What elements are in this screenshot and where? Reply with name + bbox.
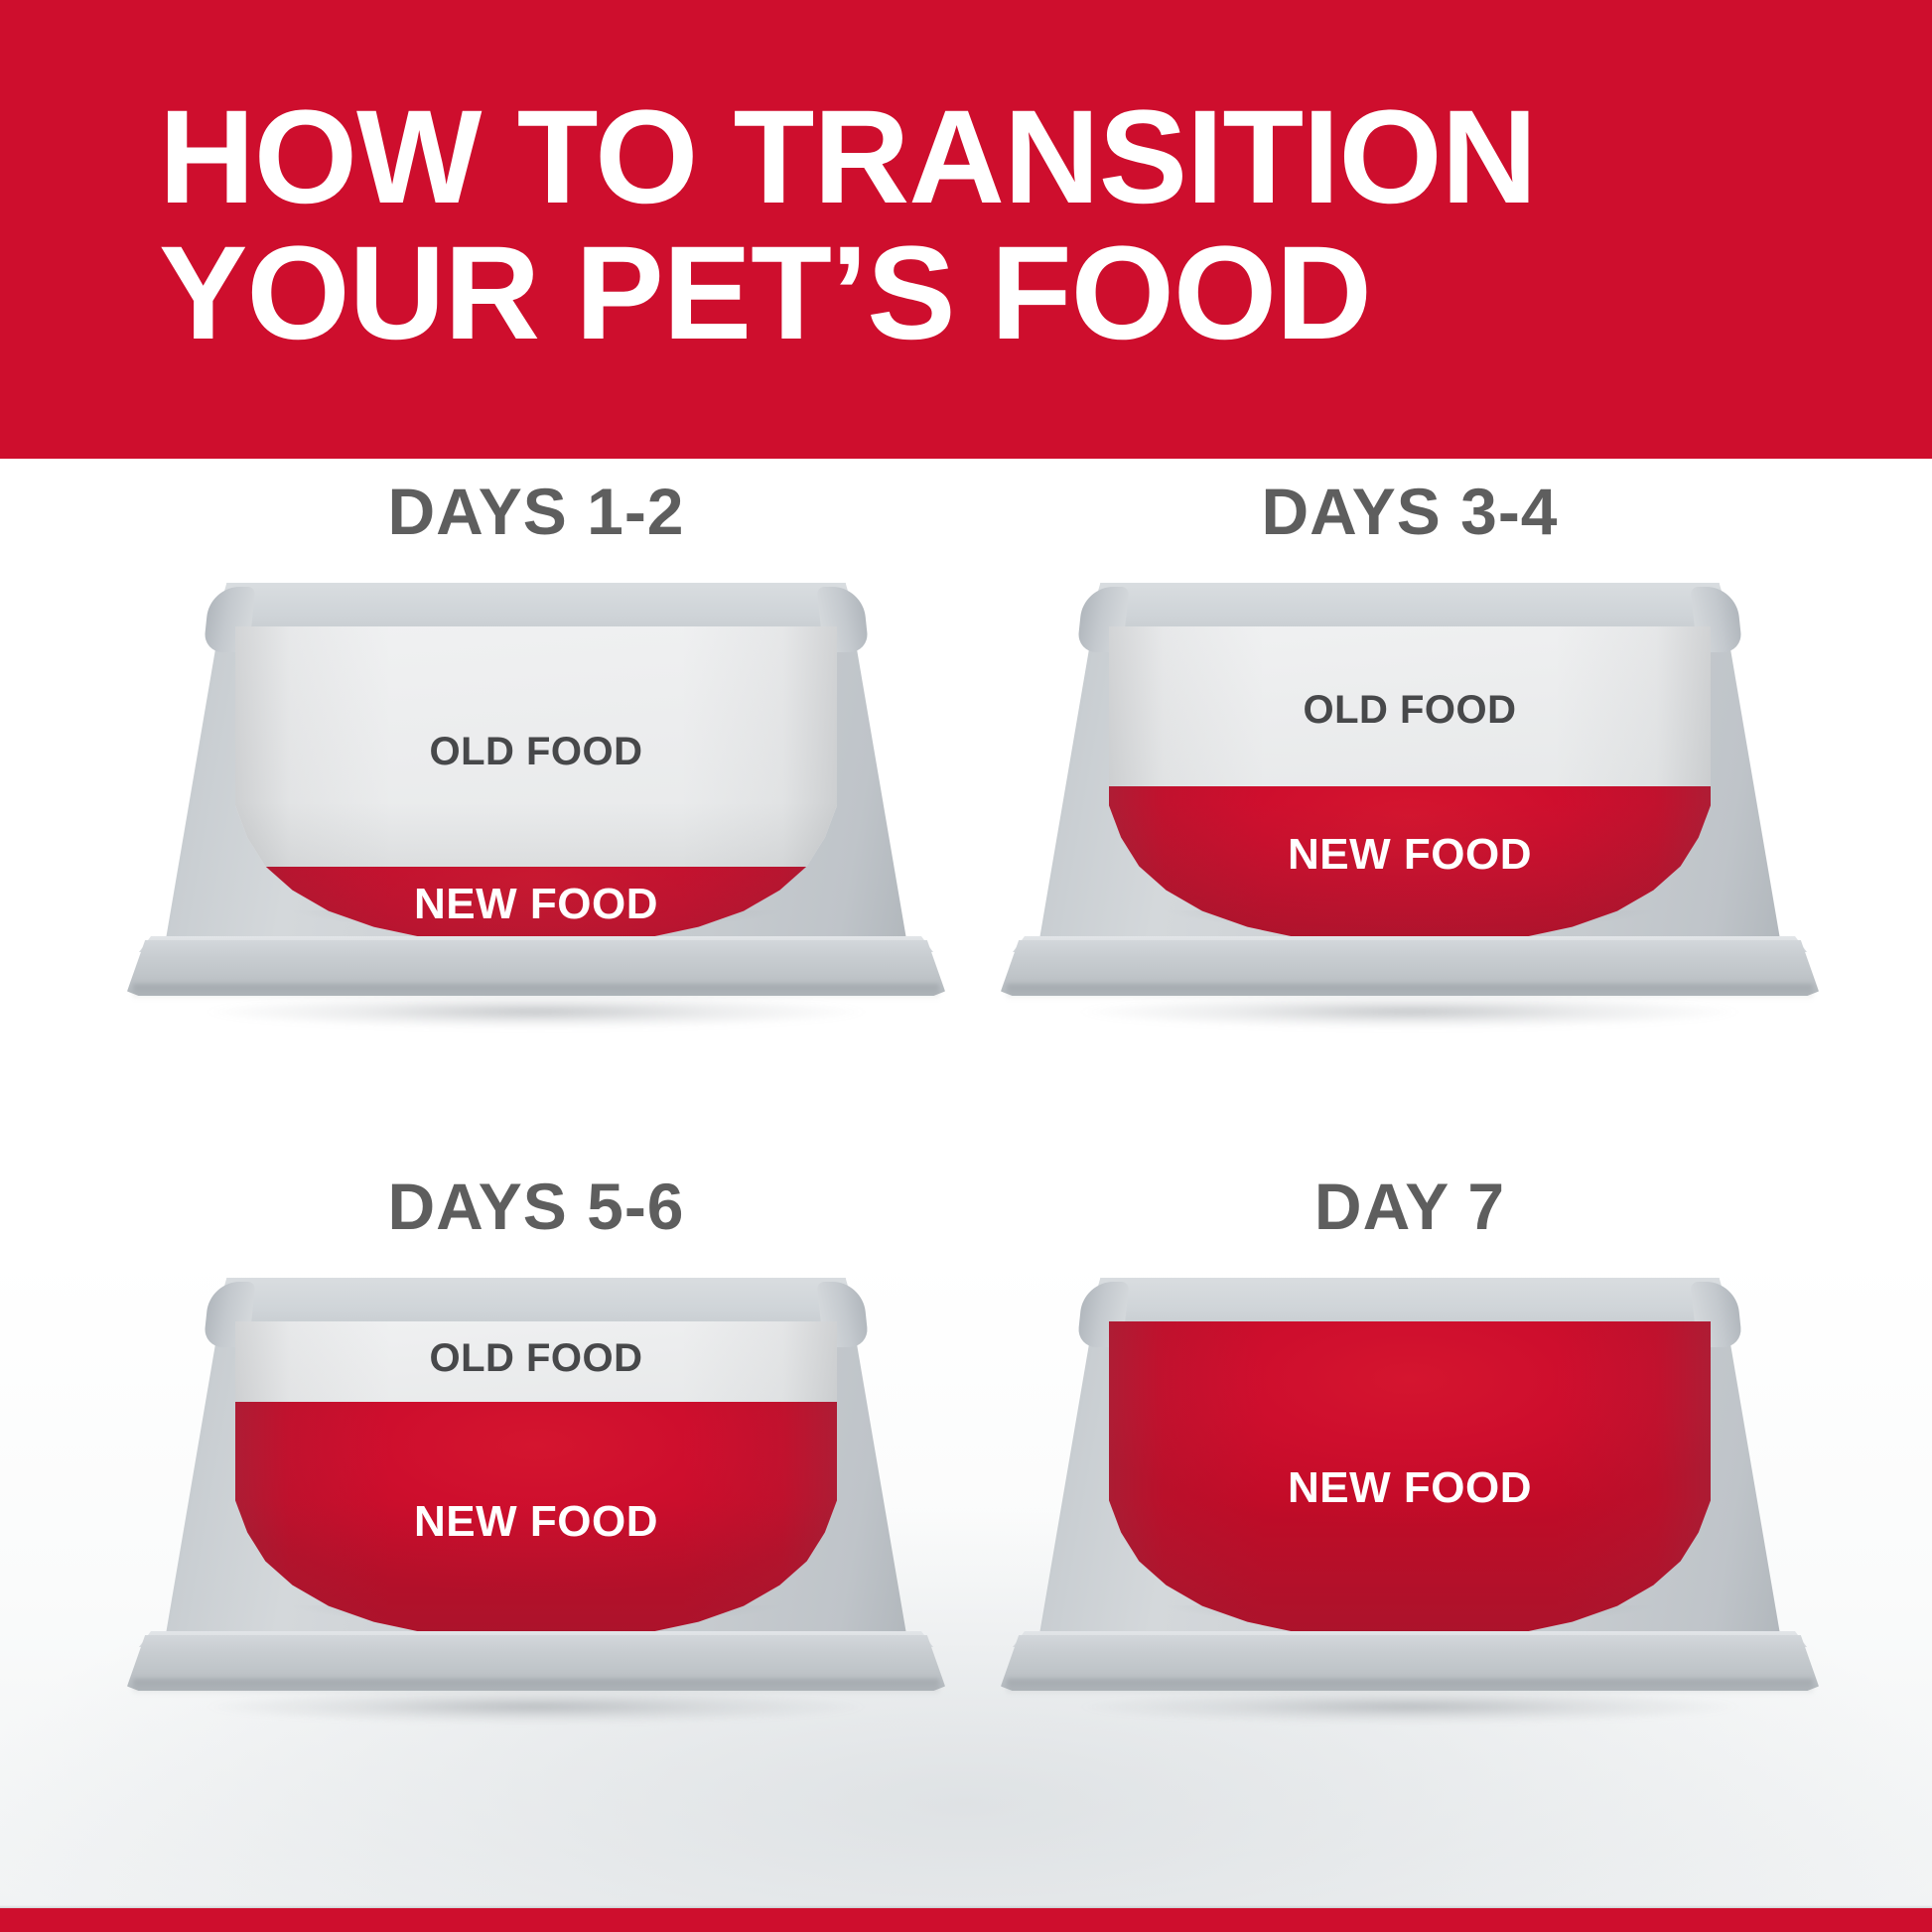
- new-food-fill: [1109, 1321, 1711, 1641]
- step-label-days-5-6: DAYS 5-6: [99, 1169, 973, 1244]
- food-area: OLD FOOD NEW FOOD: [1109, 1321, 1711, 1641]
- step-card-days-1-2: DAYS 1-2 OLD FOOD NEW FOOD: [99, 474, 973, 1159]
- bowls-stage: DAYS 1-2 OLD FOOD NEW FOOD: [0, 459, 1932, 1908]
- old-food-fill: [1109, 626, 1711, 786]
- old-food-fill: [235, 626, 837, 867]
- bowl-ground-shadow: [1077, 995, 1742, 1029]
- bowl-ground-shadow: [204, 995, 869, 1029]
- food-area: OLD FOOD NEW FOOD: [1109, 626, 1711, 946]
- step-label-day-7: DAY 7: [973, 1169, 1847, 1244]
- step-label-days-1-2: DAYS 1-2: [99, 474, 973, 549]
- step-card-day-7: DAY 7 OLD FOOD NEW FOOD: [973, 1169, 1847, 1854]
- food-area: OLD FOOD NEW FOOD: [235, 626, 837, 946]
- bowl-days-5-6: OLD FOOD NEW FOOD: [99, 1278, 973, 1744]
- page-title-line-2: YOUR PET’S FOOD: [159, 226, 1536, 362]
- bowl-base-shadow: [133, 984, 939, 1000]
- bowls-grid: DAYS 1-2 OLD FOOD NEW FOOD: [0, 459, 1932, 1908]
- bowl-base-shadow: [1007, 1679, 1813, 1695]
- bottom-brand-stripe: [0, 1908, 1932, 1932]
- old-food-fill: [235, 1321, 837, 1402]
- bowl-base-shadow: [1007, 984, 1813, 1000]
- bowl-ground-shadow: [1077, 1690, 1742, 1724]
- food-area: OLD FOOD NEW FOOD: [235, 1321, 837, 1641]
- bowl-base-shadow: [133, 1679, 939, 1695]
- bowl-days-1-2: OLD FOOD NEW FOOD: [99, 583, 973, 1049]
- bowl-ground-shadow: [204, 1690, 869, 1724]
- bowl-day-7: OLD FOOD NEW FOOD: [973, 1278, 1847, 1744]
- step-label-days-3-4: DAYS 3-4: [973, 474, 1847, 549]
- page-title: HOW TO TRANSITION YOUR PET’S FOOD: [0, 90, 1595, 361]
- step-card-days-5-6: DAYS 5-6 OLD FOOD NEW FOOD: [99, 1169, 973, 1854]
- page-title-line-1: HOW TO TRANSITION: [159, 90, 1536, 226]
- step-card-days-3-4: DAYS 3-4 OLD FOOD NEW FOOD: [973, 474, 1847, 1159]
- bowl-days-3-4: OLD FOOD NEW FOOD: [973, 583, 1847, 1049]
- header-banner: HOW TO TRANSITION YOUR PET’S FOOD: [0, 0, 1932, 459]
